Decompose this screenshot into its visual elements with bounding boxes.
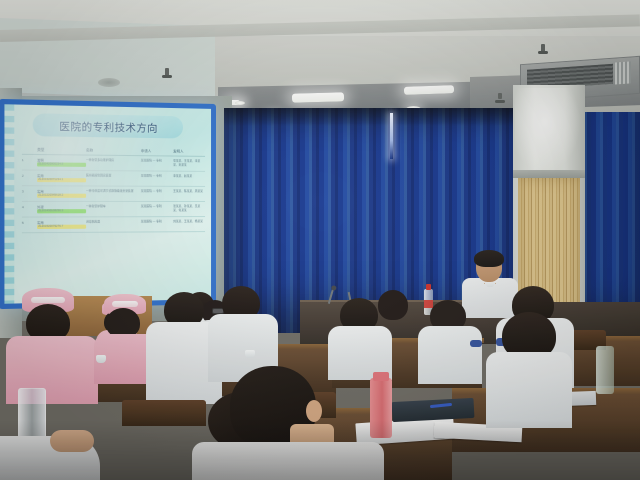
projection-screen: 医院的专利技术方向 类型 名称 申请人 发明人 1 发明 ZL201420000…: [0, 99, 216, 309]
presenter-hair: [474, 250, 504, 267]
ceiling-round-vent: [98, 78, 120, 87]
attendee-foreground-bun: [186, 370, 376, 480]
sprinkler-head-2: [541, 44, 545, 53]
white-shirt-blue-trim: [418, 326, 482, 384]
ac-vent-slot: [615, 61, 631, 84]
downlight-4: [235, 101, 245, 105]
water-bottle-clear-right: [596, 346, 614, 394]
tablet-device[interactable]: [392, 398, 475, 422]
attendee-foreground-far-right: [486, 312, 570, 422]
sprinkler-head-3: [498, 93, 502, 99]
attendee-ponytail-right: [374, 290, 414, 336]
shoulder-skin: [50, 430, 94, 452]
white-shirt: [486, 352, 572, 428]
white-top: [192, 442, 384, 480]
attendee-white-coat-right: [210, 286, 272, 378]
attendee-mid-blue-trim: [418, 300, 480, 380]
linear-light-2: [292, 92, 344, 102]
paper-cup-1: [96, 355, 106, 363]
sprinkler-head-1: [165, 68, 169, 77]
projector-glare: [4, 104, 211, 303]
sleeve-blue-trim-2: [470, 340, 482, 347]
paper-cup-2: [245, 350, 255, 358]
attendee-left-nurse-front: [18, 288, 90, 398]
pillar-light-glow: [515, 88, 581, 173]
head: [378, 290, 408, 320]
attendee-foreground-left: [0, 428, 100, 480]
pillar-cap-trim: [513, 170, 585, 178]
ear-icon: [306, 400, 322, 422]
curtain-light-gap: [390, 113, 393, 159]
presentation-slide: 医院的专利技术方向 类型 名称 申请人 发明人 1 发明 ZL201420000…: [4, 104, 211, 303]
conference-room-photo: 医院的专利技术方向 类型 名称 申请人 发明人 1 发明 ZL201420000…: [0, 0, 640, 480]
curtain-top-shadow: [224, 108, 524, 126]
